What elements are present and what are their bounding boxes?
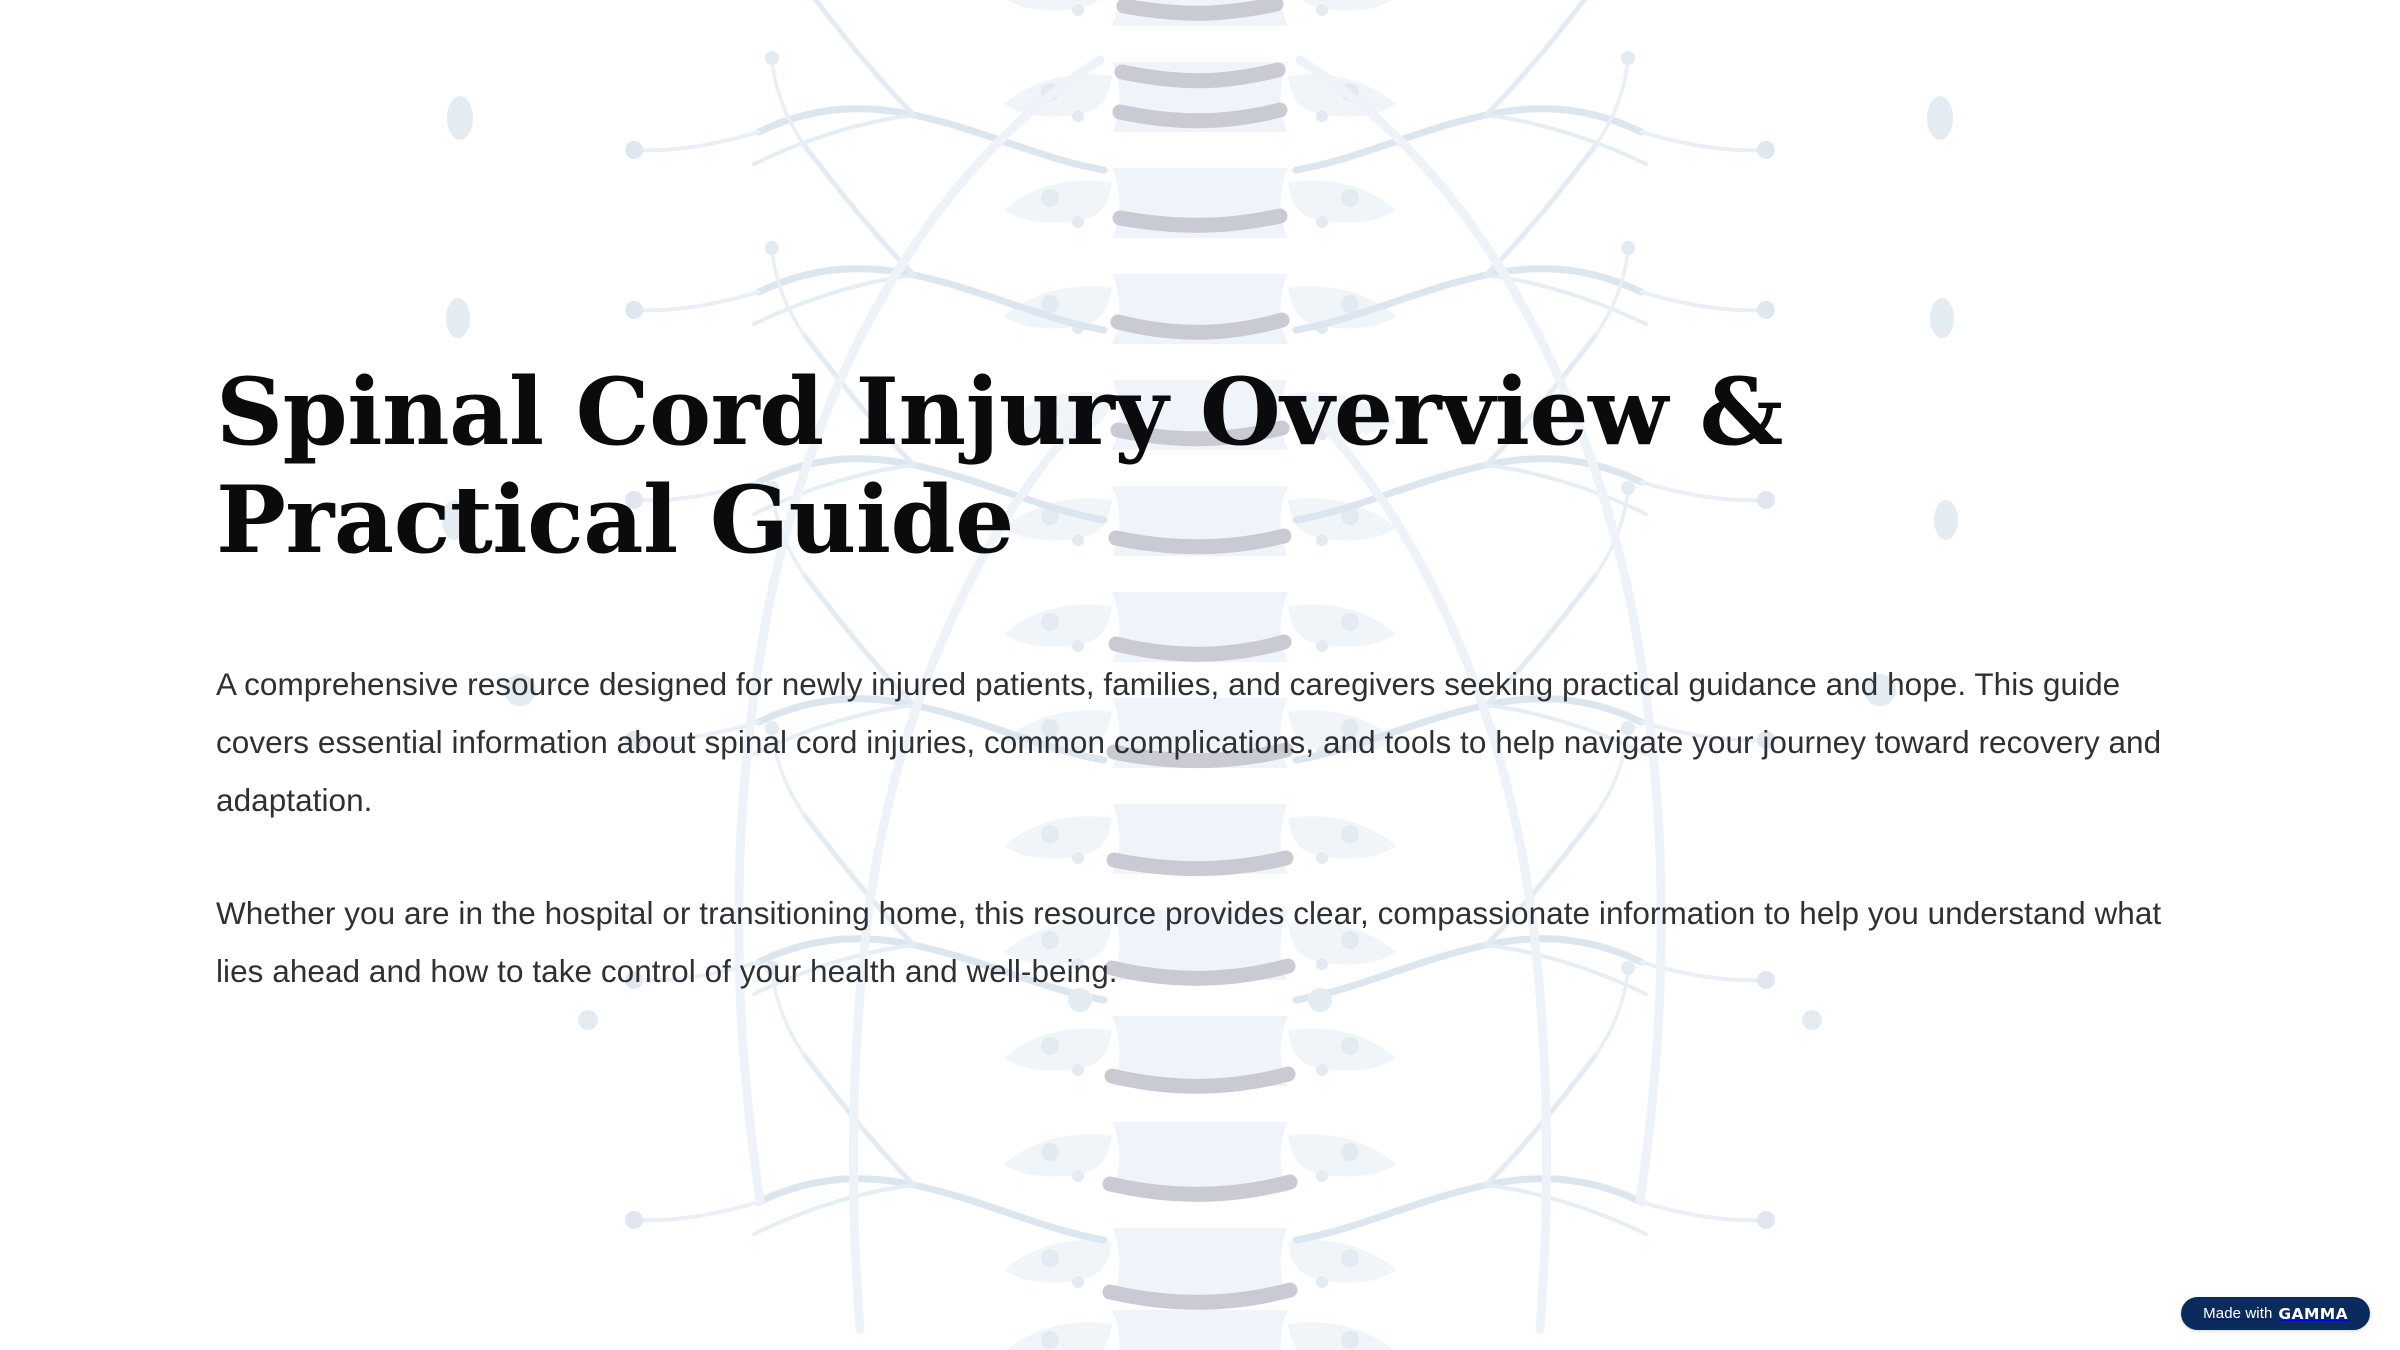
slide-root: Spinal Cord Injury Overview & Practical …	[0, 0, 2400, 1350]
made-with-gamma-badge[interactable]: Made with GAMMA	[2181, 1297, 2370, 1330]
slide-content: Spinal Cord Injury Overview & Practical …	[216, 0, 2216, 1350]
intro-paragraph-2: Whether you are in the hospital or trans…	[216, 884, 2206, 1000]
intro-paragraph-1: A comprehensive resource designed for ne…	[216, 655, 2206, 829]
body-copy: A comprehensive resource designed for ne…	[216, 655, 2206, 1000]
gamma-wordmark: GAMMA	[2278, 1305, 2348, 1323]
page-title: Spinal Cord Injury Overview & Practical …	[216, 358, 2006, 574]
badge-prefix-label: Made with	[2203, 1305, 2272, 1322]
